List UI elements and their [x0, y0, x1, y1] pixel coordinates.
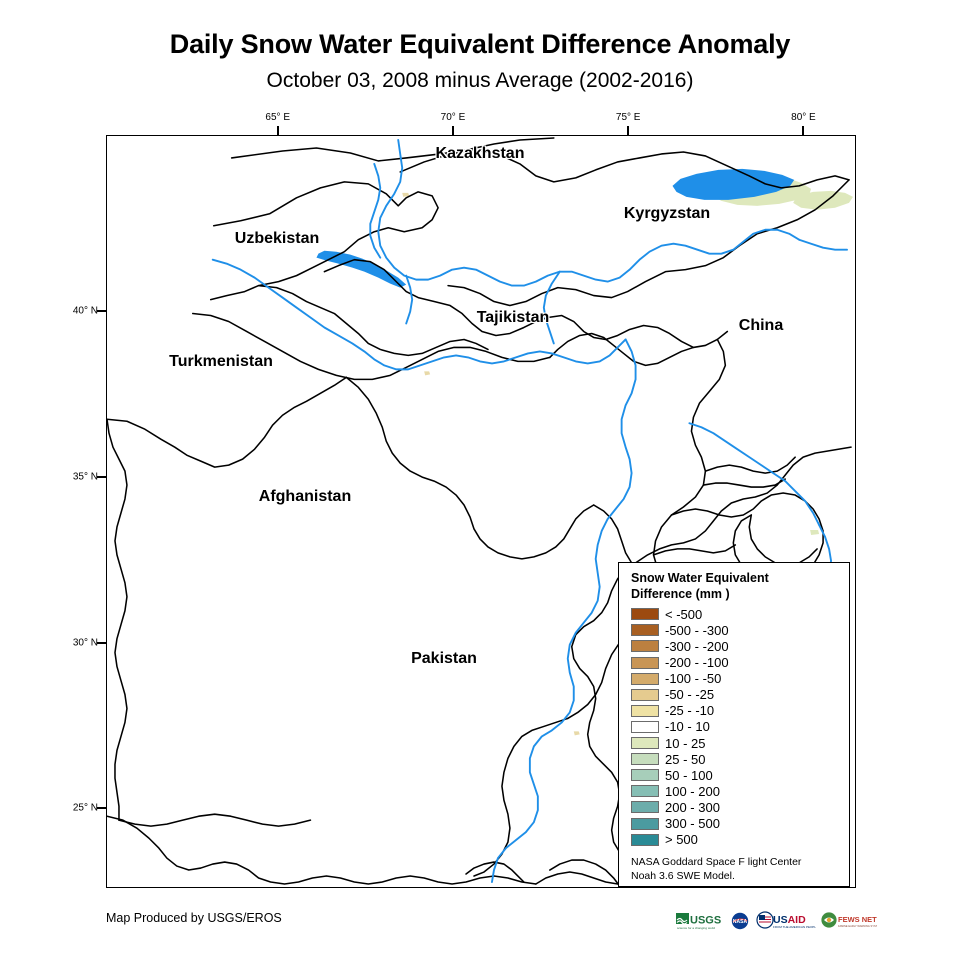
- legend-swatch-14: [631, 834, 659, 846]
- border-af-pk-south: [474, 718, 568, 876]
- legend-title: Snow Water Equivalent Difference (mm ): [631, 571, 839, 602]
- anomaly-patch-speck-e: [574, 731, 580, 735]
- legend-swatch-7: [631, 721, 659, 733]
- anomaly-patch-speck-d: [810, 530, 819, 535]
- usaid-logo[interactable]: USAID FROM THE AMERICAN PEOPLE: [756, 910, 816, 932]
- legend-swatch-11: [631, 785, 659, 797]
- legend-label-4: -100 - -50: [665, 672, 721, 685]
- legend-row: -300 - -200: [631, 638, 839, 654]
- legend-label-12: 200 - 300: [665, 801, 720, 814]
- legend-panel[interactable]: Snow Water Equivalent Difference (mm ) <…: [618, 562, 850, 887]
- legend-row: -25 - -10: [631, 703, 839, 719]
- river-tarim: [799, 240, 847, 250]
- legend-label-8: 10 - 25: [665, 737, 705, 750]
- legend-swatch-3: [631, 657, 659, 669]
- page-subtitle: October 03, 2008 minus Average (2002-201…: [0, 69, 960, 92]
- lon-tick-label-65: 65° E: [265, 112, 290, 123]
- lon-tick-mark-65: [277, 126, 279, 135]
- legend-row: -10 - 10: [631, 719, 839, 735]
- legend-label-2: -300 - -200: [665, 640, 729, 653]
- logo-strip: USGS science for a changing world NASA U…: [676, 908, 860, 934]
- legend-class-list: < -500-500 - -300-300 - -200-200 - -100-…: [631, 606, 839, 847]
- river-indus-upper: [492, 339, 636, 882]
- lon-tick-label-75: 75° E: [616, 112, 641, 123]
- country-label-pakistan: Pakistan: [411, 650, 477, 668]
- legend-row: 300 - 500: [631, 815, 839, 831]
- legend-swatch-13: [631, 818, 659, 830]
- legend-label-14: > 500: [665, 833, 698, 846]
- legend-label-10: 50 - 100: [665, 769, 713, 782]
- legend-row: < -500: [631, 606, 839, 622]
- border-china-interior-b: [749, 515, 817, 565]
- svg-text:science for a changing world: science for a changing world: [677, 926, 715, 930]
- legend-row: -500 - -300: [631, 622, 839, 638]
- svg-text:FEWS NET: FEWS NET: [838, 915, 877, 924]
- coast-arabian-sea: [107, 816, 536, 884]
- anomaly-patch-speck-b: [424, 371, 430, 375]
- lat-tick-mark-40: [97, 310, 106, 312]
- legend-label-7: -10 - 10: [665, 720, 710, 733]
- border-af-iran-west: [107, 419, 127, 820]
- country-label-tajikistan: Tajikistan: [477, 309, 550, 327]
- legend-row: 50 - 100: [631, 767, 839, 783]
- river-af-north: [370, 164, 380, 258]
- lat-tick-label-35: 35° N: [62, 471, 98, 482]
- country-label-kyrgyzstan: Kyrgyzstan: [624, 205, 710, 223]
- legend-swatch-1: [631, 624, 659, 636]
- border-af-north-east: [346, 377, 593, 559]
- lat-tick-label-40: 40° N: [62, 305, 98, 316]
- border-india-north: [636, 447, 851, 563]
- legend-credit: NASA Goddard Space F light Center Noah 3…: [631, 855, 839, 883]
- country-label-turkmenistan: Turkmenistan: [169, 353, 273, 371]
- legend-swatch-5: [631, 689, 659, 701]
- lat-tick-mark-30: [97, 642, 106, 644]
- river-uz-small: [406, 276, 412, 324]
- border-wakhan-east: [703, 479, 785, 487]
- country-label-afghanistan: Afghanistan: [259, 488, 351, 506]
- country-label-china: China: [739, 317, 783, 335]
- legend-row: 100 - 200: [631, 783, 839, 799]
- legend-swatch-2: [631, 640, 659, 652]
- legend-row: 10 - 25: [631, 735, 839, 751]
- svg-text:USGS: USGS: [690, 915, 721, 927]
- legend-label-11: 100 - 200: [665, 785, 720, 798]
- legend-label-3: -200 - -100: [665, 656, 729, 669]
- legend-row: 25 - 50: [631, 751, 839, 767]
- svg-text:FROM THE AMERICAN PEOPLE: FROM THE AMERICAN PEOPLE: [773, 925, 816, 929]
- legend-row: > 500: [631, 832, 839, 848]
- legend-row: -50 - -25: [631, 687, 839, 703]
- nasa-logo[interactable]: NASA: [729, 910, 751, 932]
- legend-row: -100 - -50: [631, 671, 839, 687]
- lat-tick-mark-25: [97, 807, 106, 809]
- river-amu-darya: [213, 260, 626, 370]
- lon-tick-mark-80: [802, 126, 804, 135]
- legend-swatch-4: [631, 673, 659, 685]
- legend-row: 200 - 300: [631, 799, 839, 815]
- title-block: Daily Snow Water Equivalent Difference A…: [0, 0, 960, 92]
- legend-row: -200 - -100: [631, 655, 839, 671]
- lon-tick-mark-70: [452, 126, 454, 135]
- usgs-logo[interactable]: USGS science for a changing world: [676, 910, 724, 932]
- country-label-kazakhstan: Kazakhstan: [436, 145, 525, 163]
- svg-text:FAMINE EARLY WARNING SYSTEMS N: FAMINE EARLY WARNING SYSTEMS NETWORK: [838, 924, 877, 928]
- svg-text:NASA: NASA: [733, 919, 748, 925]
- lon-tick-label-70: 70° E: [441, 112, 466, 123]
- footer-credit: Map Produced by USGS/EROS: [106, 911, 282, 925]
- lat-tick-label-30: 30° N: [62, 637, 98, 648]
- india-coast-detail: [536, 872, 618, 884]
- lat-tick-mark-35: [97, 476, 106, 478]
- legend-swatch-10: [631, 769, 659, 781]
- border-pk-iran-south: [119, 814, 310, 826]
- legend-swatch-9: [631, 753, 659, 765]
- legend-swatch-8: [631, 737, 659, 749]
- legend-label-5: -50 - -25: [665, 688, 714, 701]
- country-label-uzbekistan: Uzbekistan: [235, 230, 319, 248]
- lat-tick-label-25: 25° N: [62, 803, 98, 814]
- legend-swatch-0: [631, 608, 659, 620]
- legend-label-0: < -500: [665, 608, 702, 621]
- fewsnet-logo[interactable]: FEWS NET FAMINE EARLY WARNING SYSTEMS NE…: [821, 910, 877, 932]
- legend-label-13: 300 - 500: [665, 817, 720, 830]
- river-yarkand: [689, 423, 819, 525]
- border-uz-interior-a: [259, 286, 488, 356]
- legend-label-6: -25 - -10: [665, 704, 714, 717]
- legend-label-9: 25 - 50: [665, 753, 705, 766]
- river-kyrgyz-south: [544, 272, 560, 344]
- legend-label-1: -500 - -300: [665, 624, 729, 637]
- lon-tick-mark-75: [627, 126, 629, 135]
- legend-swatch-6: [631, 705, 659, 717]
- legend-swatch-12: [631, 801, 659, 813]
- border-china-tibet-w: [705, 457, 795, 473]
- border-tm-af-west: [107, 377, 346, 467]
- lon-tick-label-80: 80° E: [791, 112, 816, 123]
- page-title: Daily Snow Water Equivalent Difference A…: [0, 30, 960, 60]
